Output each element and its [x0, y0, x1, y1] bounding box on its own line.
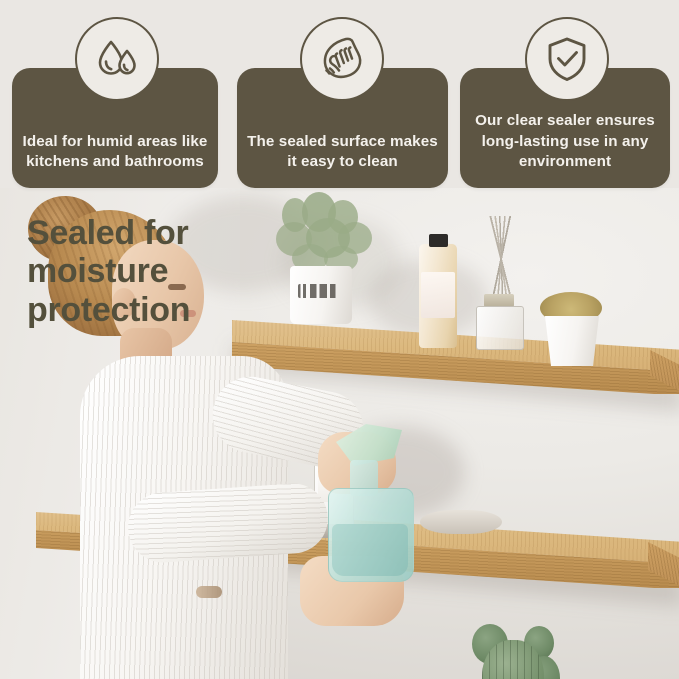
- reed-diffuser-bottle: [476, 306, 524, 350]
- screenshot-root: Sealed for moisture protection Ideal for…: [0, 0, 679, 679]
- child-wrist-bracelet: [196, 586, 222, 598]
- page-headline: Sealed for moisture protection: [27, 214, 267, 329]
- hand-wiping-cloth-icon: [300, 17, 384, 101]
- spray-bottle-liquid: [332, 524, 408, 576]
- water-droplets-icon: [75, 17, 159, 101]
- ceramic-dish: [420, 510, 502, 534]
- amber-bottle-cap: [429, 234, 448, 247]
- amber-bottle-label: [421, 272, 455, 318]
- succulent-pot: [545, 316, 599, 366]
- reed-diffuser-reeds: [466, 216, 538, 302]
- feature-card-row: Ideal for humid areas like kitchens and …: [0, 0, 679, 200]
- feature-card-humid-areas-text: Ideal for humid areas like kitchens and …: [12, 132, 218, 172]
- feature-card-easy-to-clean-text: The sealed surface makes it easy to clea…: [237, 132, 448, 172]
- feature-card-clear-sealer-text: Our clear sealer ensures long-lasting us…: [460, 111, 670, 172]
- child-lower-arm: [126, 481, 330, 565]
- greenery-pot-script-text: [298, 284, 338, 298]
- shield-check-icon: [525, 17, 609, 101]
